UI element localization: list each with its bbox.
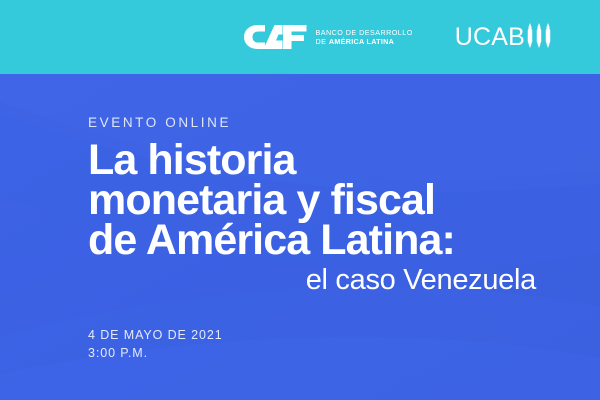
event-title-block: La historia monetaria y fiscal de Améric…: [88, 140, 536, 298]
event-subtitle: el caso Venezuela: [88, 260, 536, 298]
caf-logo: BANCO DE DESARROLLO DE AMÉRICA LATINA: [243, 24, 413, 50]
logo-group: BANCO DE DESARROLLO DE AMÉRICA LATINA UC…: [243, 0, 558, 74]
event-date: 4 DE MAYO DE 2021: [88, 327, 223, 345]
ucab-columns-icon: [526, 22, 558, 52]
ucab-logo: UCAB: [455, 22, 558, 53]
caf-wordmark-icon: [243, 24, 309, 50]
event-time: 3:00 P.M.: [88, 345, 223, 363]
poster-content: EVENTO ONLINE La historia monetaria y fi…: [0, 74, 600, 400]
caf-tagline-line2-prefix: DE: [316, 37, 329, 46]
event-poster: BANCO DE DESARROLLO DE AMÉRICA LATINA UC…: [0, 0, 600, 400]
event-type-label: EVENTO ONLINE: [88, 115, 231, 130]
caf-tagline-line2: DE AMÉRICA LATINA: [316, 38, 413, 46]
caf-tagline-line1: BANCO DE DESARROLLO: [316, 29, 413, 37]
caf-tagline-line2-bold: AMÉRICA LATINA: [329, 37, 394, 46]
event-datetime: 4 DE MAYO DE 2021 3:00 P.M.: [88, 327, 223, 363]
ucab-wordmark: UCAB: [455, 25, 525, 50]
caf-tagline: BANCO DE DESARROLLO DE AMÉRICA LATINA: [316, 28, 413, 46]
event-title-line-1: La historia: [88, 140, 536, 180]
event-title-line-3: de América Latina:: [88, 220, 536, 260]
event-title-line-2: monetaria y fiscal: [88, 180, 536, 220]
logo-bar: BANCO DE DESARROLLO DE AMÉRICA LATINA UC…: [0, 0, 600, 74]
